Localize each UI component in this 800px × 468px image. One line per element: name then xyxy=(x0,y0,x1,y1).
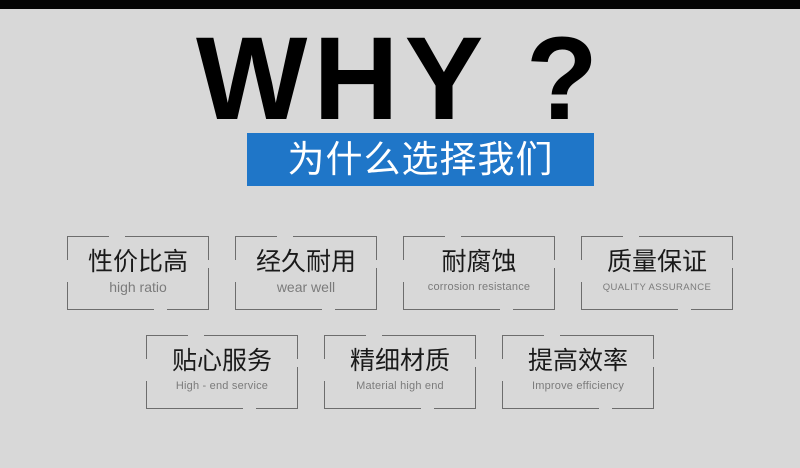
subtitle-banner: 为什么选择我们 xyxy=(247,133,594,186)
feature-card-wear-well: 经久耐用 wear well xyxy=(235,236,377,310)
frame-stub-right xyxy=(297,367,298,385)
feature-title-en: wear well xyxy=(277,279,335,296)
feature-title-en: Improve efficiency xyxy=(532,378,624,395)
feature-card-corrosion-resistance: 耐腐蚀 corrosion resistance xyxy=(403,236,555,310)
frame-stub-left xyxy=(403,282,404,302)
bracket-bottom-right-icon xyxy=(335,286,377,310)
bracket-top-right-icon xyxy=(513,236,555,260)
frame-stub-top xyxy=(639,236,719,237)
feature-title-cn: 贴心服务 xyxy=(172,347,272,375)
feature-card-high-end-service: 贴心服务 High - end service xyxy=(146,335,298,409)
frame-stub-top xyxy=(461,236,541,237)
frame-stub-top xyxy=(382,335,462,336)
frame-stub-left xyxy=(146,381,147,401)
feature-title-en: Material high end xyxy=(356,378,444,395)
frame-stub-left xyxy=(67,282,68,302)
feature-grid: 性价比高 high ratio 经久耐用 wear well xyxy=(0,236,800,409)
frame-stub-top xyxy=(560,335,640,336)
feature-title-en: corrosion resistance xyxy=(428,279,530,296)
frame-stub-bottom xyxy=(349,408,421,409)
feature-title-cn: 精细材质 xyxy=(350,347,450,375)
feature-title-cn: 经久耐用 xyxy=(256,248,356,276)
feature-card-improve-efficiency: 提高效率 Improve efficiency xyxy=(502,335,654,409)
page-title: WHY ? xyxy=(0,20,800,138)
feature-card-material-high-end: 精细材质 Material high end xyxy=(324,335,476,409)
bracket-bottom-left-icon xyxy=(235,286,277,310)
frame-stub-left xyxy=(581,282,582,302)
frame-stub-top xyxy=(293,236,363,237)
feature-row-1: 性价比高 high ratio 经久耐用 wear well xyxy=(0,236,800,310)
frame-stub-right xyxy=(376,268,377,286)
feature-title-cn: 质量保证 xyxy=(607,248,707,276)
feature-row-2: 贴心服务 High - end service 精细材质 Material hi… xyxy=(0,335,800,409)
feature-card-quality-assurance: 质量保证 QUALITY ASSURANCE xyxy=(581,236,733,310)
feature-title-en: high ratio xyxy=(109,279,167,296)
frame-stub-right xyxy=(554,268,555,286)
frame-stub-right xyxy=(208,268,209,286)
feature-card-high-ratio: 性价比高 high ratio xyxy=(67,236,209,310)
frame-stub-bottom xyxy=(92,309,154,310)
feature-title-cn: 性价比高 xyxy=(88,248,188,276)
feature-title-cn: 提高效率 xyxy=(528,347,628,375)
subtitle-banner-label: 为什么选择我们 xyxy=(288,141,554,178)
frame-stub-right xyxy=(732,268,733,286)
bracket-bottom-left-icon xyxy=(67,286,109,310)
frame-stub-left xyxy=(324,381,325,401)
frame-stub-left xyxy=(235,282,236,302)
frame-stub-bottom xyxy=(606,309,678,310)
feature-title-en: High - end service xyxy=(176,378,268,395)
feature-title-cn: 耐腐蚀 xyxy=(441,248,516,276)
frame-stub-bottom xyxy=(260,309,322,310)
frame-stub-left xyxy=(502,381,503,401)
top-black-bar xyxy=(0,0,800,9)
promo-banner-page: WHY ? 为什么选择我们 性价比高 high ratio xyxy=(0,0,800,468)
frame-stub-top xyxy=(204,335,284,336)
frame-stub-bottom xyxy=(171,408,243,409)
bracket-top-left-icon xyxy=(403,236,445,260)
frame-stub-top xyxy=(125,236,195,237)
bracket-bottom-right-icon xyxy=(167,286,209,310)
frame-stub-bottom xyxy=(428,309,500,310)
frame-stub-bottom xyxy=(527,408,599,409)
frame-stub-right xyxy=(653,367,654,385)
feature-title-en: QUALITY ASSURANCE xyxy=(603,279,712,296)
frame-stub-right xyxy=(475,367,476,385)
